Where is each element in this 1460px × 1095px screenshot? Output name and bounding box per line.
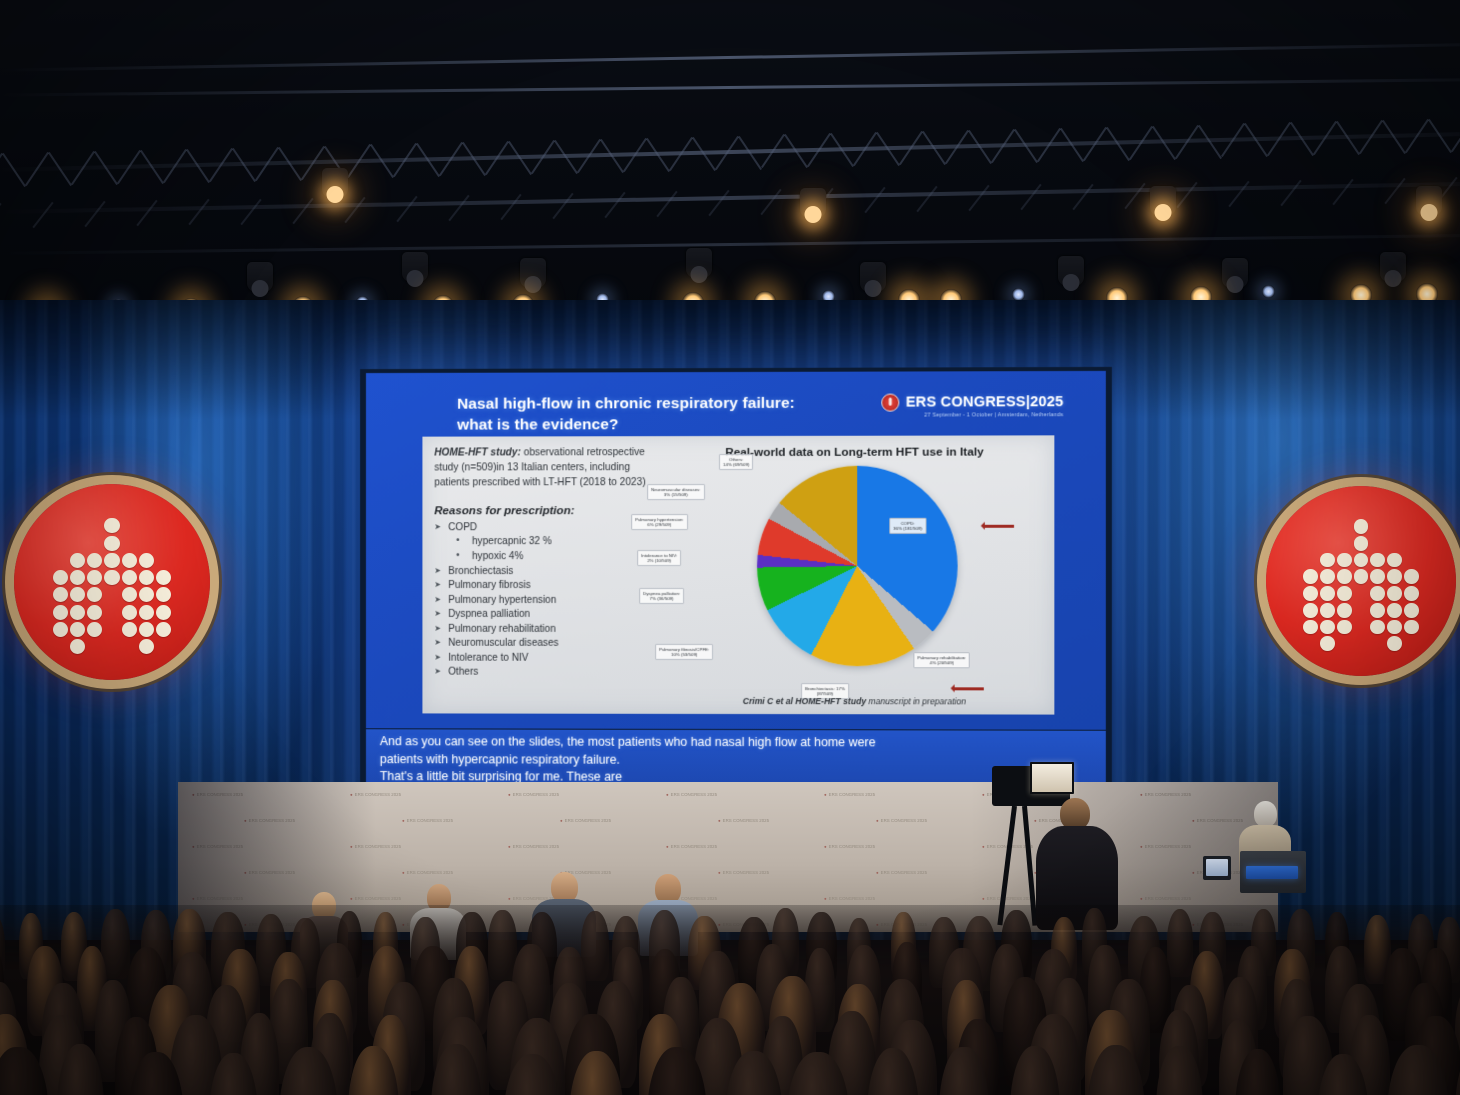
emblem-dot — [1404, 603, 1419, 618]
reason-item: Dyspnea palliation — [434, 608, 657, 623]
spotlight-lamp — [1155, 204, 1172, 221]
audience-member — [1167, 909, 1194, 977]
slide-content-panel: HOME-HFT study: observational retrospect… — [422, 435, 1054, 714]
emblem-dot — [1387, 569, 1402, 584]
stage-spotlight — [686, 248, 712, 278]
spotlight-lamp — [691, 266, 708, 283]
pie-label-pulmonary-hypertension: Pulmonary hypertension:6% (29/509) — [631, 514, 687, 530]
emblem-dot — [1320, 553, 1335, 568]
stage-spotlight — [1222, 258, 1248, 288]
reason-item: Pulmonary hypertension — [434, 594, 657, 609]
audience-area — [0, 905, 1460, 1095]
emblem-dot — [1303, 569, 1318, 584]
caption-line-1: And as you can see on the slides, the mo… — [366, 733, 1106, 752]
reason-item: COPD — [434, 521, 657, 536]
stage-spotlight — [1150, 186, 1176, 216]
stage-spotlight — [860, 262, 886, 292]
lectern-screen — [1246, 866, 1298, 879]
audience-member — [581, 911, 609, 981]
spotlight-lamp — [1385, 270, 1402, 287]
emblem-dot — [1354, 536, 1369, 551]
chart-source-study: Crimi C et al HOME-HFT study — [743, 696, 866, 706]
ers-congress-dates: 27 September - 1 October | Amsterdam, Ne… — [924, 412, 1063, 418]
emblem-dot — [87, 605, 102, 620]
emblem-dot — [1387, 586, 1402, 601]
spotlight-lamp — [407, 270, 424, 287]
chart-source-caption: Crimi C et al HOME-HFT study manuscript … — [661, 696, 1048, 707]
pie-label-dyspnea-palliation: Dyspnea palliation:7% (36/509) — [639, 588, 684, 604]
spotlight-lamp — [252, 280, 269, 297]
slide-title-line2: what is the evidence? — [457, 416, 618, 433]
emblem-dot — [1320, 586, 1335, 601]
ers-congress-wordmark: ERS CONGRESS|2025 — [906, 394, 1064, 410]
spotlight-lamp — [1421, 204, 1438, 221]
reasons-list: COPDhypercapnic 32 %hypoxic 4%Bronchiect… — [434, 521, 657, 681]
stage-spotlight — [1380, 252, 1406, 282]
emblem-dot — [122, 622, 137, 637]
emblem-dot — [1303, 620, 1318, 635]
emblem-dot — [70, 553, 85, 568]
chart-source-status: manuscript in preparation — [866, 696, 966, 706]
rig-light — [1262, 285, 1275, 298]
emblem-dot — [139, 639, 154, 654]
spotlight-lamp — [1227, 276, 1244, 293]
emblem-dot — [1337, 603, 1352, 618]
spotlight-lamp — [1063, 274, 1080, 291]
emblem-dot — [122, 587, 137, 602]
emblem-dot — [53, 570, 68, 585]
stage-spotlight — [520, 258, 546, 288]
pie-label-others: Others:14% (69/509) — [719, 454, 753, 470]
slide-title: Nasal high-flow in chronic respiratory f… — [457, 394, 876, 437]
emblem-dot — [1303, 603, 1318, 618]
reason-item: hypoxic 4% — [434, 550, 657, 565]
emblem-dot — [70, 622, 85, 637]
emblem-dot — [1320, 620, 1335, 635]
reason-item: hypercapnic 32 % — [434, 536, 657, 551]
projection-screen: Nasal high-flow in chronic respiratory f… — [360, 367, 1112, 797]
emblem-dot — [70, 639, 85, 654]
emblem-dot — [156, 605, 171, 620]
highlight-arrow-bronchiectasis — [954, 687, 984, 690]
emblem-dot — [87, 570, 102, 585]
emblem-dot — [122, 605, 137, 620]
pie-label-neuromuscular-diseases: Neuromuscular diseases:3% (15/509) — [647, 484, 704, 500]
presentation-slide: Nasal high-flow in chronic respiratory f… — [366, 371, 1106, 730]
emblem-dot — [1320, 636, 1335, 651]
highlight-arrow-copd — [984, 525, 1014, 528]
emblem-dot — [1320, 603, 1335, 618]
reasons-heading: Reasons for prescription: — [434, 504, 657, 517]
reason-item: Pulmonary rehabilitation — [434, 623, 657, 638]
emblem-dot — [156, 622, 171, 637]
emblem-dot — [1387, 553, 1402, 568]
slide-title-line1: Nasal high-flow in chronic respiratory f… — [457, 395, 795, 413]
reason-item: Intolerance to NIV — [434, 651, 657, 666]
emblem-dot — [1370, 569, 1385, 584]
emblem-dot — [122, 553, 137, 568]
emblem-dot — [70, 587, 85, 602]
spotlight-lamp — [327, 186, 344, 203]
emblem-dot — [104, 553, 119, 568]
emblem-dot — [1370, 553, 1385, 568]
emblem-dot — [1387, 636, 1402, 651]
pie-chart — [757, 466, 958, 667]
emblem-dot — [1404, 569, 1419, 584]
emblem-dot — [139, 605, 154, 620]
ers-emblem-right — [1266, 486, 1456, 676]
emblem-dot — [156, 587, 171, 602]
study-description: HOME-HFT study: observational retrospect… — [434, 446, 657, 491]
confidence-monitor-display — [1206, 859, 1228, 876]
emblem-dot — [1354, 569, 1369, 584]
emblem-dot — [1404, 620, 1419, 635]
pie-label-pulmonary-rehabilitation: Pulmonary rehabilitation:4% (20/509) — [913, 652, 970, 668]
emblem-dot — [1387, 603, 1402, 618]
stage-spotlight — [1416, 186, 1442, 216]
auditorium-photo: Nasal high-flow in chronic respiratory f… — [0, 0, 1460, 1095]
reason-item: Neuromuscular diseases — [434, 637, 657, 652]
slide-left-column: HOME-HFT study: observational retrospect… — [434, 446, 657, 681]
emblem-dot — [139, 622, 154, 637]
emblem-dot — [1354, 519, 1369, 534]
emblem-dot — [104, 518, 119, 533]
emblem-dot — [1387, 620, 1402, 635]
stage-spotlight — [322, 168, 348, 198]
spotlight-lamp — [865, 280, 882, 297]
stage-spotlight — [247, 262, 273, 292]
emblem-dot — [1320, 569, 1335, 584]
stage-spotlight — [402, 252, 428, 282]
reason-item: Bronchiectasis — [434, 565, 657, 580]
emblem-dot — [87, 553, 102, 568]
emblem-dot — [1337, 586, 1352, 601]
stage-spotlight — [1058, 256, 1084, 286]
emblem-dot — [104, 570, 119, 585]
emblem-dot — [1370, 620, 1385, 635]
emblem-dot — [53, 605, 68, 620]
emblem-dot — [70, 570, 85, 585]
emblem-dot — [104, 536, 119, 551]
pie-label-copd: COPD:36% (181/509) — [889, 518, 926, 534]
ers-mark-icon — [882, 394, 900, 412]
stage-spotlight — [800, 188, 826, 218]
emblem-dot — [156, 570, 171, 585]
emblem-dot — [87, 587, 102, 602]
emblem-dot — [53, 622, 68, 637]
spotlight-lamp — [525, 276, 542, 293]
emblem-dot — [1303, 586, 1318, 601]
emblem-dot — [53, 587, 68, 602]
emblem-dot — [70, 605, 85, 620]
emblem-dot — [87, 622, 102, 637]
emblem-dot — [122, 570, 137, 585]
pie-label-intolerance-to-niv: Intolerance to NIV:2% (10/509) — [637, 550, 681, 566]
emblem-dot — [139, 553, 154, 568]
emblem-dot — [1370, 603, 1385, 618]
spotlight-lamp — [805, 206, 822, 223]
pie-label-pulmonary-fibrosis-cpfe: Pulmonary fibrosis/CPFE:10% (53/509) — [655, 644, 713, 660]
emblem-dot — [139, 587, 154, 602]
emblem-dot — [1370, 586, 1385, 601]
camera-viewfinder — [1030, 762, 1074, 794]
study-name: HOME-HFT study: — [434, 447, 521, 458]
emblem-dot — [1337, 620, 1352, 635]
reason-item: Pulmonary fibrosis — [434, 579, 657, 594]
emblem-dot — [1404, 586, 1419, 601]
emblem-dot — [1354, 553, 1369, 568]
emblem-dot — [139, 570, 154, 585]
emblem-dot — [1337, 553, 1352, 568]
pie-disc — [757, 466, 958, 667]
ers-emblem-left — [14, 484, 210, 680]
ers-congress-logo: ERS CONGRESS|2025 — [882, 393, 1064, 412]
reason-item: Others — [434, 666, 657, 681]
emblem-dot — [1337, 569, 1352, 584]
pie-chart-area: Real-world data on Long-term HFT use in … — [661, 439, 1048, 712]
rig-light — [1012, 288, 1025, 301]
